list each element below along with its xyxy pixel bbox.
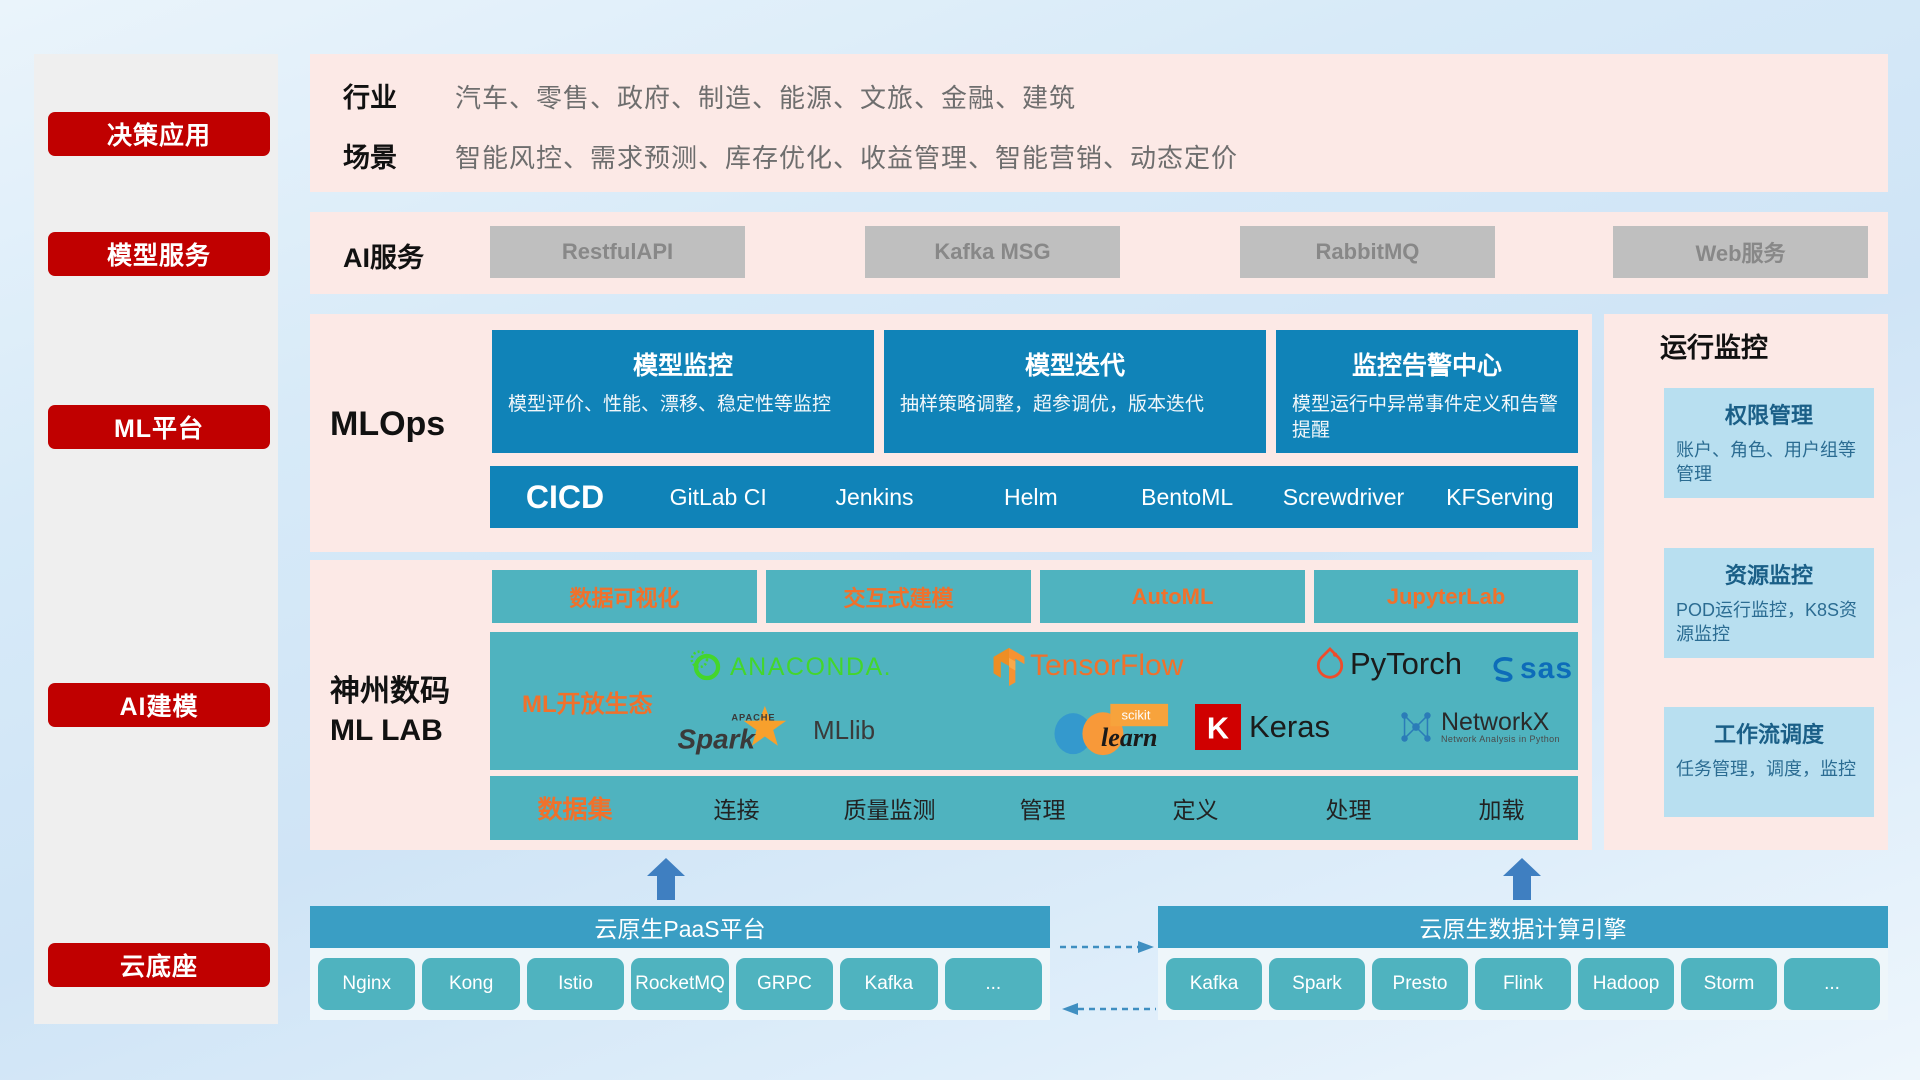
- mlops-card-alert-center[interactable]: 监控告警中心 模型运行中异常事件定义和告警提醒: [1276, 330, 1578, 453]
- monitoring-card-desc: POD运行监控，K8S资源监控: [1676, 598, 1862, 647]
- monitoring-card-title: 权限管理: [1676, 398, 1862, 430]
- mllib-logo-text: MLlib: [813, 715, 875, 746]
- keras-logo: K Keras: [1195, 704, 1330, 750]
- paas-tag-more[interactable]: ...: [945, 958, 1042, 1010]
- ai-service-panel: AI服务 RestfulAPI Kafka MSG RabbitMQ Web服务: [310, 212, 1888, 294]
- paas-tag-nginx[interactable]: Nginx: [318, 958, 415, 1010]
- layer-chip-label: 模型服务: [107, 236, 211, 272]
- dataset-item-process[interactable]: 处理: [1272, 791, 1425, 825]
- engine-tag-presto[interactable]: Presto: [1372, 958, 1468, 1010]
- layer-chip-label: 决策应用: [107, 116, 211, 152]
- monitoring-title: 运行监控: [1660, 326, 1768, 365]
- applications-panel: 行业 汽车、零售、政府、制造、能源、文旅、金融、建筑 场景 智能风控、需求预测、…: [310, 54, 1888, 192]
- service-button-restful-api[interactable]: RestfulAPI: [490, 226, 745, 278]
- ml-ecosystem-box: ML开放生态 ANACONDA. TensorFlow PyTorc: [490, 632, 1578, 770]
- monitoring-card-desc: 任务管理，调度，监控: [1676, 757, 1862, 781]
- ml-ecosystem-label: ML开放生态: [522, 684, 653, 719]
- ai-service-label: AI服务: [343, 236, 424, 275]
- engine-tag-storm[interactable]: Storm: [1681, 958, 1777, 1010]
- anaconda-logo: ANACONDA.: [690, 650, 892, 684]
- mlops-card-model-monitoring[interactable]: 模型监控 模型评价、性能、漂移、稳定性等监控: [492, 330, 874, 453]
- dataset-item-manage[interactable]: 管理: [966, 791, 1119, 825]
- service-button-web[interactable]: Web服务: [1613, 226, 1868, 278]
- mlops-card-title: 模型迭代: [900, 346, 1250, 382]
- tensorflow-logo-text: TensorFlow: [1030, 649, 1183, 683]
- networkx-logo-text: NetworkX: [1441, 710, 1560, 735]
- monitoring-card-workflow[interactable]: 工作流调度 任务管理，调度，监控: [1664, 707, 1874, 817]
- data-engine-header: 云原生数据计算引擎: [1158, 906, 1888, 948]
- paas-tag-row: Nginx Kong Istio RocketMQ GRPC Kafka ...: [310, 948, 1050, 1020]
- architecture-diagram: 决策应用 模型服务 ML平台 AI建模 云底座 行业 汽车、零售、政府、制造、能…: [0, 0, 1920, 1080]
- paas-tag-kong[interactable]: Kong: [422, 958, 519, 1010]
- paas-tag-kafka[interactable]: Kafka: [840, 958, 937, 1010]
- layer-rail: [34, 54, 278, 1024]
- up-arrow-icon-paas: [647, 858, 685, 900]
- pytorch-logo-text: PyTorch: [1350, 646, 1462, 682]
- monitoring-card-permission[interactable]: 权限管理 账户、角色、用户组等管理: [1664, 388, 1874, 498]
- cicd-item-bentoml[interactable]: BentoML: [1109, 484, 1265, 510]
- tool-button-data-visualization[interactable]: 数据可视化: [492, 570, 757, 623]
- mlops-card-desc: 模型运行中异常事件定义和告警提醒: [1292, 392, 1562, 443]
- dataset-item-connect[interactable]: 连接: [660, 791, 813, 825]
- monitoring-card-desc: 账户、角色、用户组等管理: [1676, 438, 1862, 487]
- layer-chip-label: ML平台: [114, 409, 204, 445]
- engine-tag-more[interactable]: ...: [1784, 958, 1880, 1010]
- engine-tag-kafka[interactable]: Kafka: [1166, 958, 1262, 1010]
- tool-button-automl[interactable]: AutoML: [1040, 570, 1305, 623]
- svg-text:scikit: scikit: [1122, 708, 1151, 723]
- paas-tag-grpc[interactable]: GRPC: [736, 958, 833, 1010]
- mlops-card-title: 监控告警中心: [1292, 346, 1562, 382]
- tool-button-interactive-modeling[interactable]: 交互式建模: [766, 570, 1031, 623]
- layer-chip-label: 云底座: [120, 947, 198, 983]
- engine-tag-hadoop[interactable]: Hadoop: [1578, 958, 1674, 1010]
- mlops-card-model-iteration[interactable]: 模型迭代 抽样策略调整，超参调优，版本迭代: [884, 330, 1266, 453]
- dataset-title: 数据集: [490, 790, 660, 826]
- dashed-arrow-left-icon: [1060, 1000, 1156, 1018]
- cicd-item-helm[interactable]: Helm: [953, 484, 1109, 510]
- dataset-item-quality-monitor[interactable]: 质量监测: [813, 791, 966, 825]
- monitoring-card-resource[interactable]: 资源监控 POD运行监控，K8S资源监控: [1664, 548, 1874, 658]
- cicd-item-kfserving[interactable]: KFServing: [1422, 484, 1578, 510]
- scikit-learn-logo: scikit learn: [1045, 702, 1185, 756]
- paas-header: 云原生PaaS平台: [310, 906, 1050, 948]
- data-engine-tag-row: Kafka Spark Presto Flink Hadoop Storm ..…: [1158, 948, 1888, 1020]
- service-button-rabbitmq[interactable]: RabbitMQ: [1240, 226, 1495, 278]
- mlops-label: MLOps: [330, 405, 445, 444]
- ml-lab-label-line2: ML LAB: [330, 711, 450, 750]
- sas-logo-text: sas: [1520, 652, 1573, 686]
- cicd-item-screwdriver[interactable]: Screwdriver: [1265, 484, 1421, 510]
- svg-text:K: K: [1207, 712, 1229, 746]
- up-arrow-icon-data-engine: [1503, 858, 1541, 900]
- svg-text:Spark: Spark: [678, 724, 757, 755]
- pytorch-logo: PyTorch: [1315, 646, 1462, 682]
- dataset-item-define[interactable]: 定义: [1119, 791, 1272, 825]
- tensorflow-logo: TensorFlow: [990, 646, 1183, 686]
- layer-chip-decision-app[interactable]: 决策应用: [48, 112, 270, 156]
- dataset-bar: 数据集 连接 质量监测 管理 定义 处理 加载: [490, 776, 1578, 840]
- mlops-card-desc: 模型评价、性能、漂移、稳定性等监控: [508, 392, 858, 418]
- keras-logo-text: Keras: [1249, 709, 1330, 745]
- industry-label: 行业: [343, 76, 397, 115]
- networkx-logo: NetworkX Network Analysis in Python: [1395, 706, 1560, 748]
- anaconda-logo-text: ANACONDA.: [730, 653, 892, 682]
- cicd-item-gitlab-ci[interactable]: GitLab CI: [640, 484, 796, 510]
- service-button-kafka-msg[interactable]: Kafka MSG: [865, 226, 1120, 278]
- ml-lab-label: 神州数码 ML LAB: [330, 672, 450, 750]
- tool-button-jupyterlab[interactable]: JupyterLab: [1314, 570, 1578, 623]
- layer-chip-cloud-base[interactable]: 云底座: [48, 943, 270, 987]
- scenario-value: 智能风控、需求预测、库存优化、收益管理、智能营销、动态定价: [455, 138, 1238, 175]
- mlops-card-desc: 抽样策略调整，超参调优，版本迭代: [900, 392, 1250, 418]
- layer-chip-label: AI建模: [119, 687, 198, 723]
- cicd-bar: CICD GitLab CI Jenkins Helm BentoML Scre…: [490, 466, 1578, 528]
- paas-tag-rocketmq[interactable]: RocketMQ: [631, 958, 728, 1010]
- networkx-logo-subtext: Network Analysis in Python: [1441, 735, 1560, 744]
- dataset-item-load[interactable]: 加载: [1425, 791, 1578, 825]
- scenario-label: 场景: [343, 136, 397, 175]
- mlops-card-title: 模型监控: [508, 346, 858, 382]
- svg-text:APACHE: APACHE: [731, 713, 775, 723]
- industry-value: 汽车、零售、政府、制造、能源、文旅、金融、建筑: [455, 78, 1076, 115]
- layer-chip-ai-modeling[interactable]: AI建模: [48, 683, 270, 727]
- monitoring-card-title: 资源监控: [1676, 558, 1862, 590]
- ml-lab-label-line1: 神州数码: [330, 672, 450, 711]
- paas-tag-istio[interactable]: Istio: [527, 958, 624, 1010]
- layer-chip-ml-platform[interactable]: ML平台: [48, 405, 270, 449]
- layer-chip-model-service[interactable]: 模型服务: [48, 232, 270, 276]
- monitoring-card-title: 工作流调度: [1676, 717, 1862, 749]
- svg-text:learn: learn: [1101, 723, 1157, 752]
- cicd-item-jenkins[interactable]: Jenkins: [796, 484, 952, 510]
- engine-tag-spark[interactable]: Spark: [1269, 958, 1365, 1010]
- spark-mllib-logo: APACHE Spark MLlib: [675, 704, 875, 756]
- dashed-arrow-right-icon: [1060, 938, 1156, 956]
- engine-tag-flink[interactable]: Flink: [1475, 958, 1571, 1010]
- sas-logo: sas: [1490, 652, 1573, 686]
- cicd-title: CICD: [490, 479, 640, 516]
